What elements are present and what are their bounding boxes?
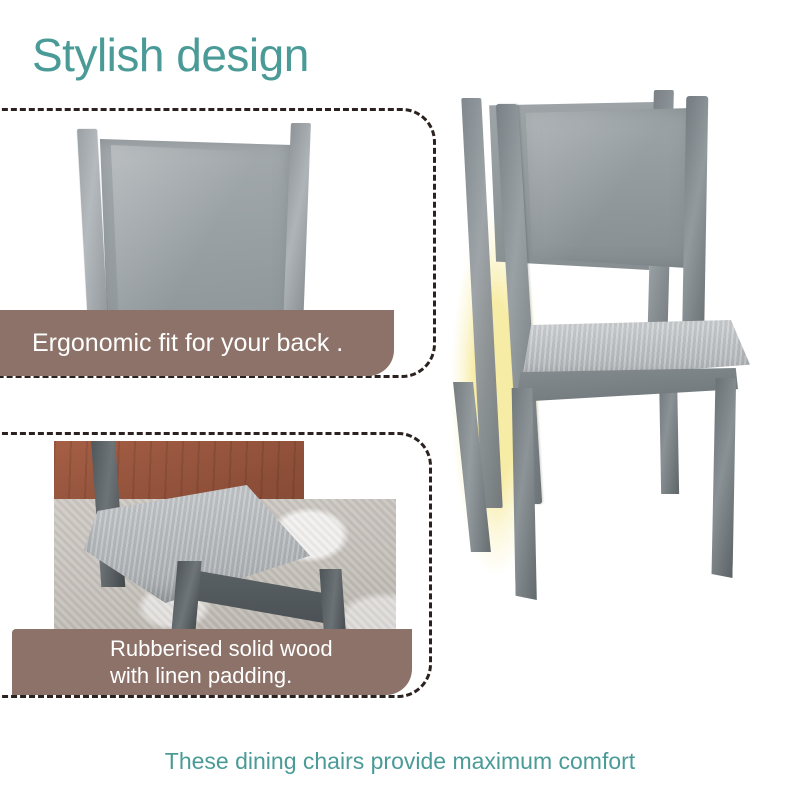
chair-seat-apron	[516, 368, 738, 402]
chair-stile-right	[682, 96, 709, 358]
page-title: Stylish design	[32, 28, 309, 82]
backrest-highlight	[106, 145, 266, 325]
footer-caption: These dining chairs provide maximum comf…	[0, 748, 800, 775]
hero-chair-image	[440, 70, 800, 690]
caption-banner-ergonomic-back: Ergonomic fit for your back .	[0, 310, 394, 376]
chair-back-cushion	[522, 108, 692, 268]
caption-text: Ergonomic fit for your back .	[32, 329, 343, 358]
chair-leg-front-right	[709, 378, 740, 578]
foreground-chair	[498, 92, 798, 680]
infographic-canvas: Stylish design Ergonomi	[0, 0, 800, 800]
caption-text-line-1: Rubberised solid wood	[110, 635, 333, 662]
caption-banner-rubberised-wood: Rubberised solid wood with linen padding…	[12, 629, 412, 695]
caption-text-line-2: with linen padding.	[110, 662, 292, 689]
seat-cushion-closeup-photo	[54, 441, 396, 639]
